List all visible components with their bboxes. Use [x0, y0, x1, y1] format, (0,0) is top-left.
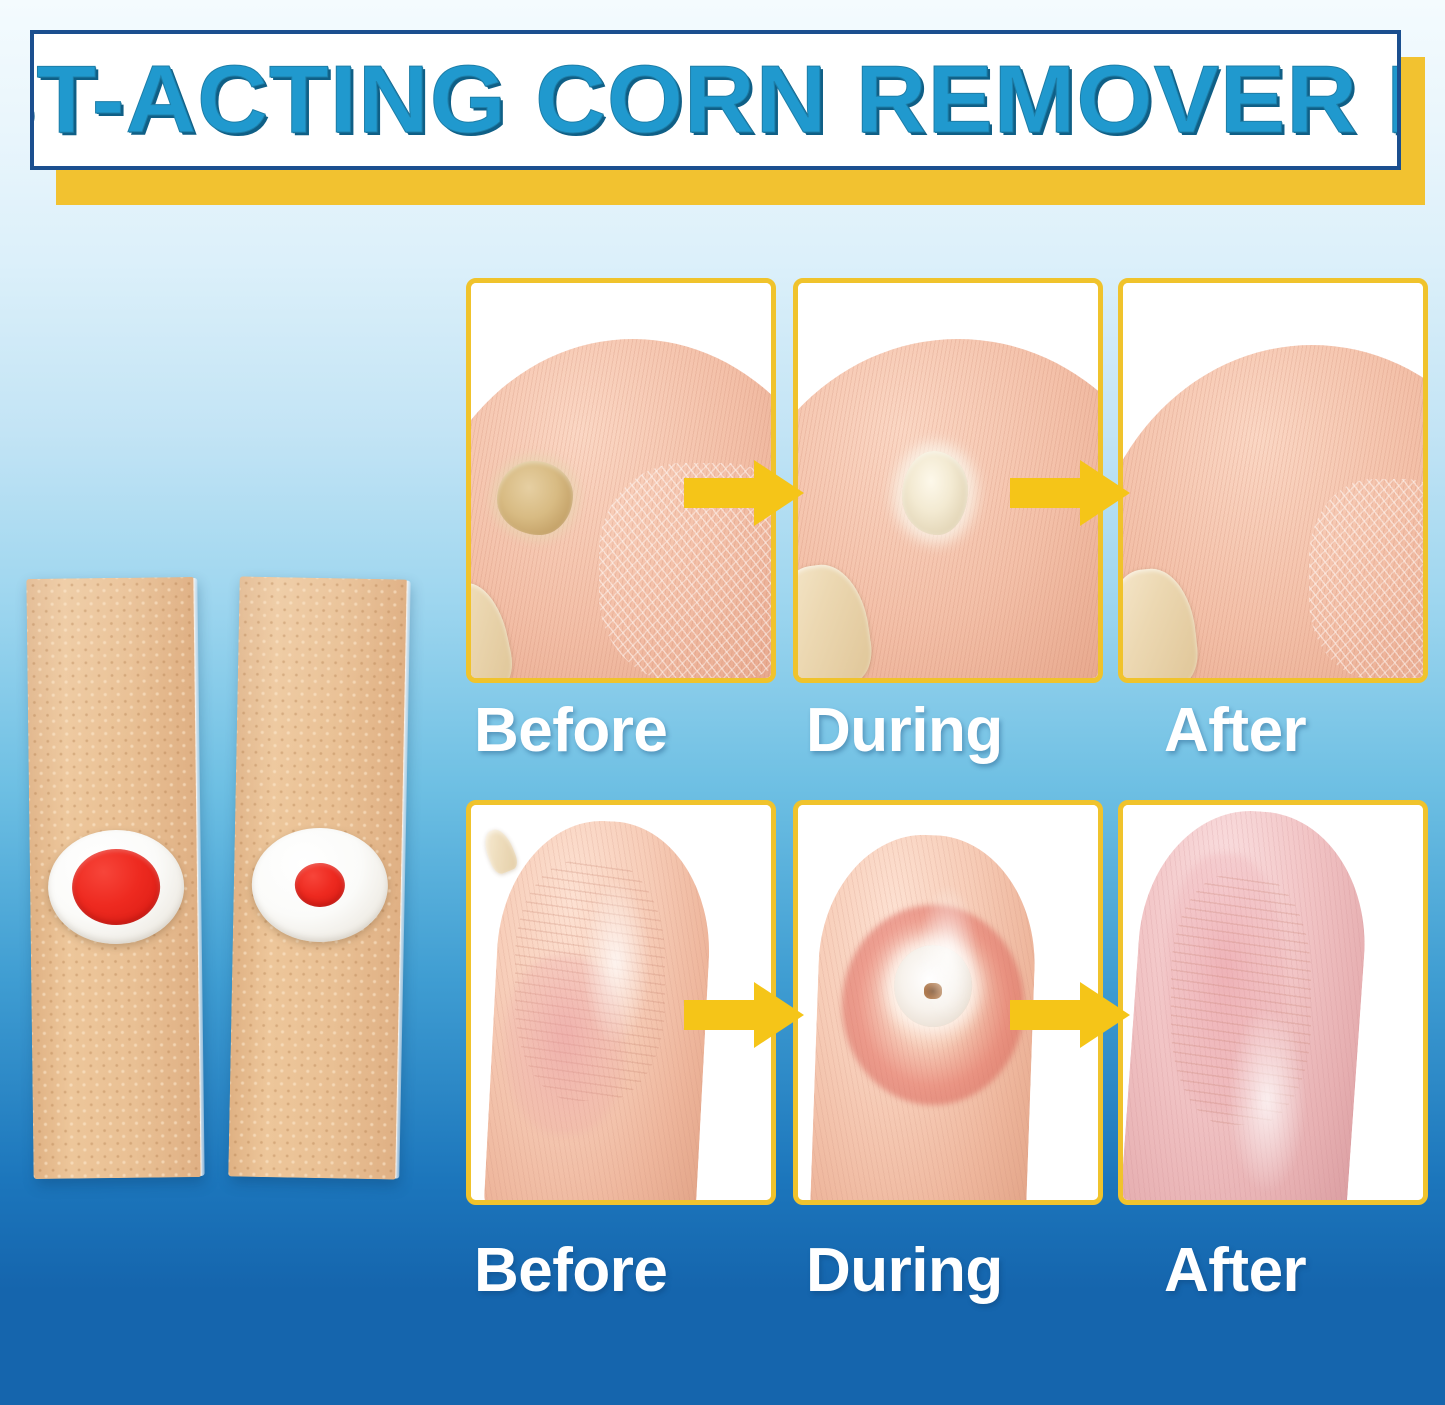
arrow-right-icon [1010, 980, 1130, 1050]
caption-toe-during: During [806, 700, 1003, 762]
cushion-oval [251, 827, 389, 944]
medicated-dot-large [72, 848, 161, 925]
panel-finger-after [1118, 800, 1428, 1205]
product-poster: FAST-ACTING CORN REMOVER PAD [0, 0, 1445, 1405]
pad-strip-small-dot [228, 576, 407, 1179]
photo-finger-healed [1123, 805, 1423, 1200]
cushion-oval [47, 829, 184, 945]
caption-finger-after: After [1164, 1240, 1306, 1302]
pad-strip-large-dot [26, 577, 201, 1179]
photo-toe-clear-skin [1123, 283, 1423, 678]
medicated-dot-small [294, 863, 345, 908]
caption-finger-during: During [806, 1240, 1003, 1302]
caption-finger-before: Before [474, 1240, 667, 1302]
title-banner: FAST-ACTING CORN REMOVER PAD [30, 30, 1409, 180]
arrow-right-icon [684, 980, 804, 1050]
arrow-right-icon [684, 458, 804, 528]
product-pads-group [22, 578, 422, 1198]
banner-box: FAST-ACTING CORN REMOVER PAD [30, 30, 1401, 170]
page-title: FAST-ACTING CORN REMOVER PAD [30, 52, 1401, 148]
arrow-right-icon [1010, 458, 1130, 528]
caption-toe-after: After [1164, 700, 1306, 762]
caption-toe-before: Before [474, 700, 667, 762]
panel-toe-after [1118, 278, 1428, 683]
